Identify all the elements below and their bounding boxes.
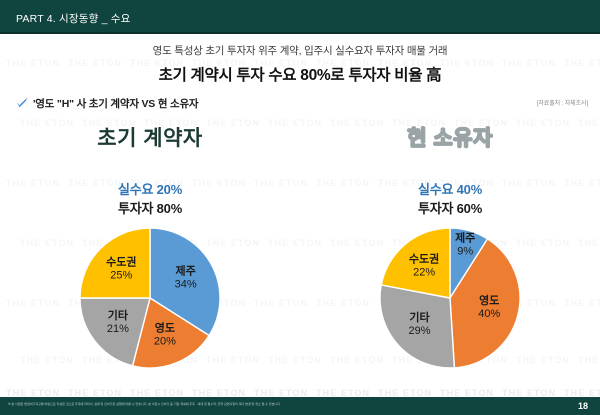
pie-svg-left: 제주34%영도20%기타21%수도권25% [70,224,230,372]
panel-current-owners: 현 소유자 실수요 40% 투자자 60% 제주9%영도40%기타29%수도권2… [300,122,600,377]
pie-slice-value: 29% [408,325,430,337]
pie-slice-label: 제주 [455,231,475,245]
bullet-row: '영도 "H" 사 초기 계약자 VS 현 소유자 [자료출처 : 자체조사] [0,94,600,112]
pie-slice-label: 수도권 [106,255,136,268]
stat-real-demand-left: 실수요 20% [0,179,300,198]
part-bar-underline [0,32,600,34]
pie-slice-label: 기타 [108,308,129,322]
pie-slice-value: 9% [457,246,473,258]
stat-real-demand-right: 실수요 40% [300,179,600,198]
panel-title-left: 초기 계약자 [0,122,300,152]
footer-disclaimer: ※ 본 사업은 법정허가지구를 바탕으로 작성된 것으로 추후에 따라서, 설계… [8,402,538,406]
pie-slice-label: 기타 [409,310,430,324]
part-header-bar: PART 4. 시장동향 _ 수요 [0,0,600,34]
pie-svg-right: 제주9%영도40%기타29%수도권22% [370,224,530,372]
source-note: [자료출처 : 자체조사] [537,98,588,107]
page-number: 18 [578,401,588,411]
panel-title-right: 현 소유자 [300,122,600,152]
slide-canvas: THE ETONTHE ETONTHE ETONTHE ETONTHE ETON… [0,0,600,415]
main-headline: 초기 계약시 투자 수요 80%로 투자자 비율 高 [0,63,600,85]
pie-slice-value: 34% [175,278,197,290]
stat-investor-right: 투자자 60% [300,198,600,217]
pie-slice-label: 제주 [175,263,195,277]
pie-slice-value: 22% [413,267,435,279]
pie-slice-label: 영도 [155,322,175,335]
bullet-label: '영도 "H" 사 초기 계약자 VS 현 소유자 [33,96,198,111]
pie-slice-label: 수도권 [409,253,439,266]
panel-initial-contractors: 초기 계약자 실수요 20% 투자자 80% 제주34%영도20%기타21%수도… [0,122,300,377]
pie-slice-value: 40% [478,308,500,320]
check-icon [15,95,29,109]
stat-investor-left: 투자자 80% [0,198,300,217]
headline-block: 영도 특성상 초기 투자자 위주 계약, 입주시 실수요자 투자자 매물 거래 … [0,34,600,90]
pie-chart-right: 제주9%영도40%기타29%수도권22% [300,224,600,374]
pie-slice-value: 20% [154,336,176,348]
pie-chart-left: 제주34%영도20%기타21%수도권25% [0,224,300,374]
footer-bar: ※ 본 사업은 법정허가지구를 바탕으로 작성된 것으로 추후에 따라서, 설계… [0,397,600,415]
pie-slice-value: 21% [107,323,129,335]
pie-slice-value: 25% [110,269,132,281]
part-label: PART 4. 시장동향 _ 수요 [16,11,130,26]
sub-headline: 영도 특성상 초기 투자자 위주 계약, 입주시 실수요자 투자자 매물 거래 [0,43,600,58]
pie-slice-label: 영도 [479,294,499,307]
